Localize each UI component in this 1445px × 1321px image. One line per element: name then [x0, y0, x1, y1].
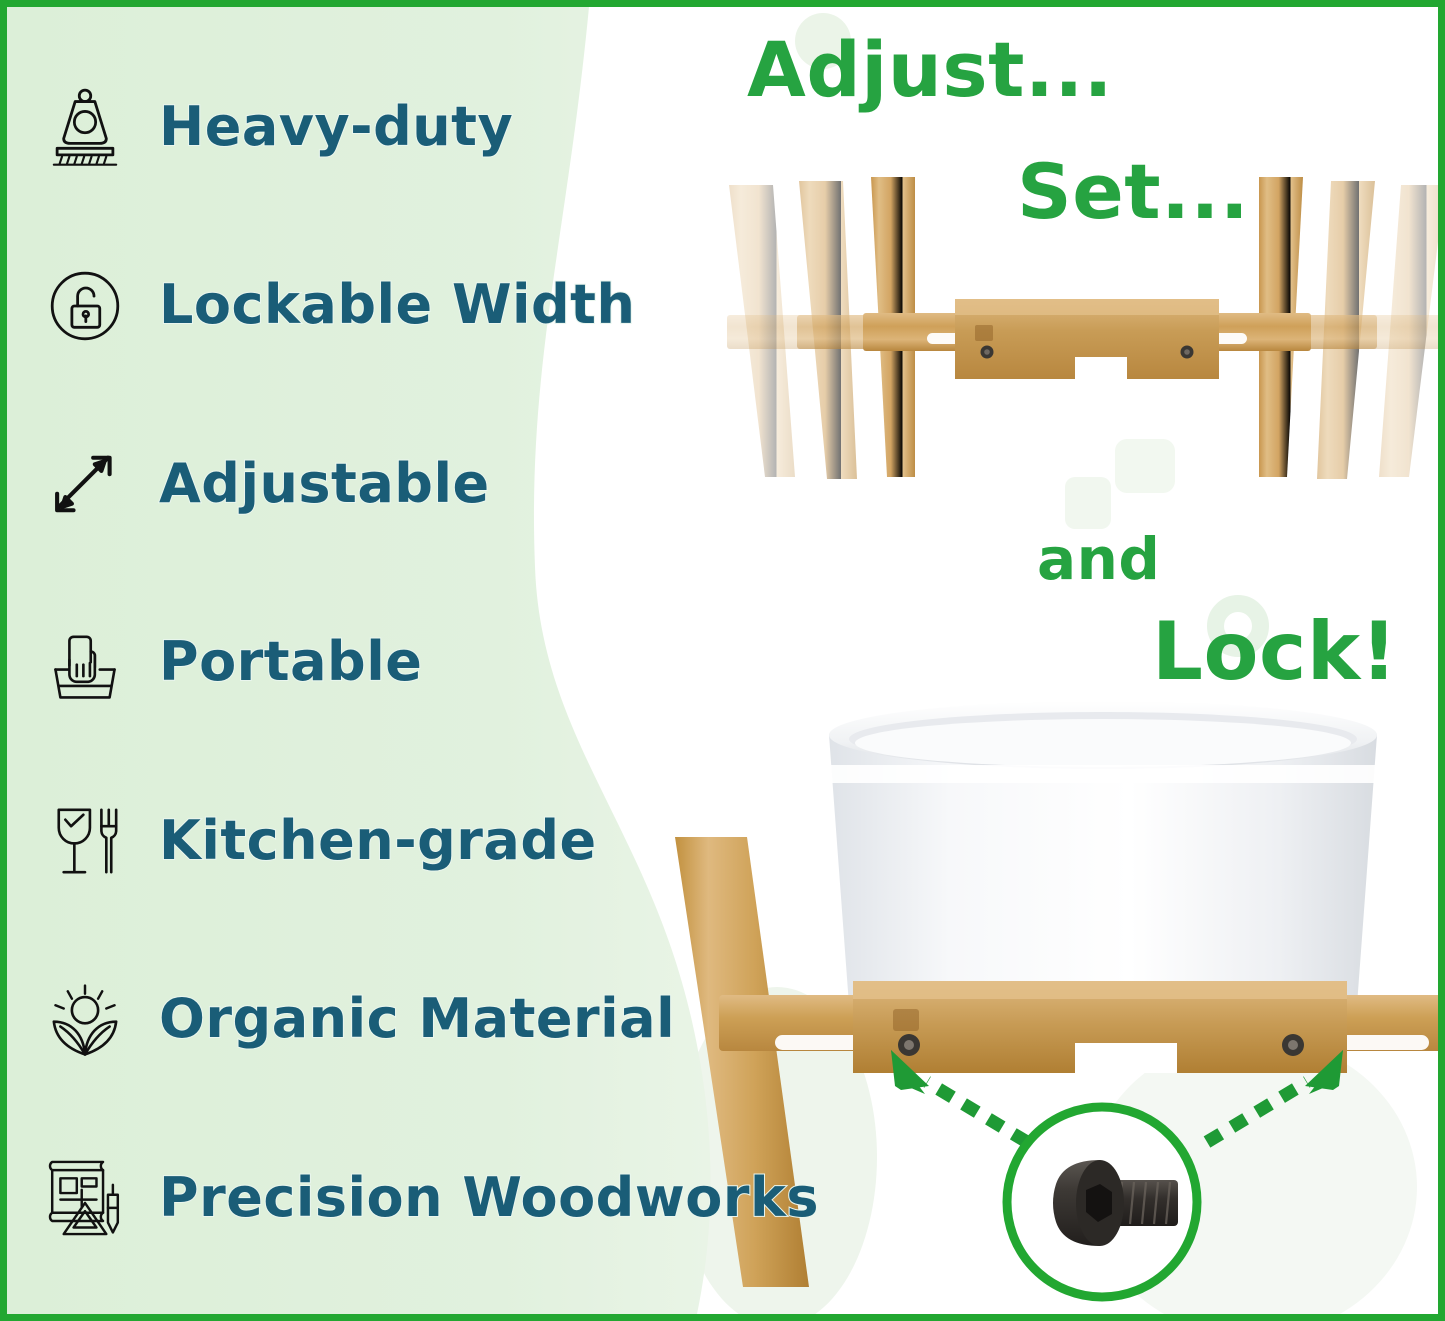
lock-screw-callout	[982, 1092, 1222, 1321]
feature-label-lockable-width: Lockable Width	[159, 277, 635, 334]
feature-label-organic-material: Organic Material	[159, 991, 675, 1048]
feature-item-kitchen-grade[interactable]: Kitchen-grade	[7, 755, 747, 927]
weight-on-scale-icon	[37, 79, 133, 175]
feature-label-adjustable: Adjustable	[159, 456, 490, 513]
feature-label-heavy-duty: Heavy-duty	[159, 99, 513, 156]
hand-lifting-crate-icon	[37, 615, 133, 711]
headline-set: Set...	[1017, 147, 1249, 236]
feature-label-precision-woodworks: Precision Woodworks	[159, 1170, 819, 1227]
feature-item-organic-material[interactable]: Organic Material	[7, 934, 747, 1106]
feature-label-kitchen-grade: Kitchen-grade	[159, 813, 597, 870]
feature-label-portable: Portable	[159, 634, 422, 691]
feature-item-lockable-width[interactable]: Lockable Width	[7, 220, 747, 392]
glass-and-fork-food-safe-icon	[37, 793, 133, 889]
feature-item-heavy-duty[interactable]: Heavy-duty	[7, 41, 747, 213]
headline-lock: Lock!	[1152, 605, 1398, 698]
feature-panel: Heavy-duty Lockable Width	[7, 7, 747, 1314]
feature-item-adjustable[interactable]: Adjustable	[7, 398, 747, 570]
blueprint-drafting-icon	[37, 1150, 133, 1246]
sun-over-leaves-icon	[37, 972, 133, 1068]
feature-item-portable[interactable]: Portable	[7, 577, 747, 749]
diagonal-resize-arrow-icon	[37, 436, 133, 532]
feature-item-precision-woodworks[interactable]: Precision Woodworks	[7, 1112, 747, 1284]
arrow-to-right-lock-screw	[1197, 1042, 1367, 1152]
product-feature-infographic: Adjust... Set... and Lock!	[0, 0, 1445, 1321]
feature-list: Heavy-duty Lockable Width	[7, 7, 747, 1314]
headline-and: and	[1037, 525, 1160, 593]
open-padlock-icon	[37, 258, 133, 354]
headline-adjust: Adjust...	[747, 25, 1113, 114]
